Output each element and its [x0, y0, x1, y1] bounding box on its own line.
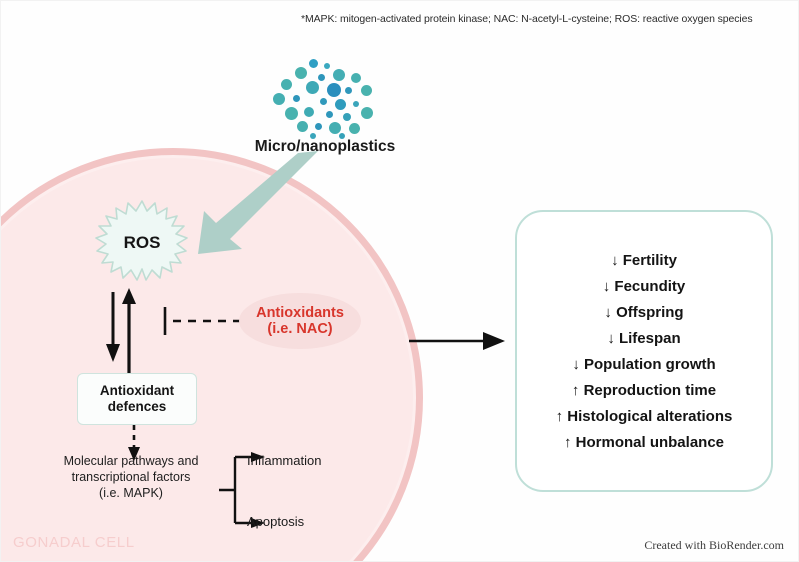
particle	[324, 63, 330, 69]
antioxidant-defences-line2: defences	[108, 399, 167, 415]
antioxidant-defences-box: Antioxidant defences	[77, 373, 197, 425]
particle	[297, 121, 308, 132]
particle	[326, 111, 333, 118]
particle	[329, 122, 341, 134]
inflammation-label: Inflammation	[247, 453, 321, 468]
figure-canvas: *MAPK: mitogen-activated protein kinase;…	[0, 0, 799, 562]
particle	[320, 98, 327, 105]
antioxidants-node: Antioxidants (i.e. NAC)	[239, 293, 361, 349]
particle	[293, 95, 300, 102]
particle	[315, 123, 322, 130]
particle	[273, 93, 285, 105]
pathways-line2: transcriptional factors	[41, 469, 221, 485]
particle	[345, 87, 352, 94]
uptake-arrow-icon	[196, 151, 326, 256]
ros-label: ROS	[83, 199, 201, 287]
particle	[361, 107, 373, 119]
particle	[361, 85, 372, 96]
particle	[327, 83, 341, 97]
antioxidants-line2: (i.e. NAC)	[267, 321, 332, 337]
pathways-line1: Molecular pathways and	[41, 453, 221, 469]
particle	[281, 79, 292, 90]
ros-equilibrium-arrows-icon	[99, 286, 155, 376]
particle	[333, 69, 345, 81]
outcome-item: ↓ Fecundity	[603, 274, 686, 298]
pathways-line3: (i.e. MAPK)	[41, 485, 221, 501]
outcome-item: ↓ Population growth	[572, 352, 715, 376]
particle	[285, 107, 298, 120]
outcome-item: ↓ Offspring	[604, 300, 683, 324]
particle	[309, 59, 318, 68]
particle	[306, 81, 319, 94]
outcome-item: ↑ Reproduction time	[572, 378, 716, 402]
gonadal-cell-label: GONADAL CELL	[13, 534, 135, 551]
molecular-pathways-text: Molecular pathways and transcriptional f…	[41, 453, 221, 501]
outcome-item: ↑ Histological alterations	[556, 404, 733, 428]
apoptosis-label: Apoptosis	[247, 514, 304, 529]
particle	[295, 67, 307, 79]
particle	[335, 99, 346, 110]
particle	[343, 113, 351, 121]
outcome-item: ↑ Hormonal unbalance	[564, 430, 724, 454]
footnote-abbreviations: *MAPK: mitogen-activated protein kinase;…	[301, 13, 781, 26]
particle	[304, 107, 314, 117]
particle	[349, 123, 360, 134]
antioxidant-defences-line1: Antioxidant	[100, 383, 174, 399]
particle	[351, 73, 361, 83]
particle	[318, 74, 325, 81]
cell-to-outcomes-arrow-icon	[409, 329, 509, 353]
microplastics-particle-cluster	[273, 59, 377, 139]
outcomes-panel: ↓ Fertility ↓ Fecundity ↓ Offspring ↓ Li…	[515, 210, 773, 492]
outcome-item: ↓ Lifespan	[607, 326, 680, 350]
biorender-credit: Created with BioRender.com	[644, 538, 784, 553]
antioxidants-line1: Antioxidants	[256, 305, 344, 321]
particle	[353, 101, 359, 107]
outcome-item: ↓ Fertility	[611, 248, 677, 272]
